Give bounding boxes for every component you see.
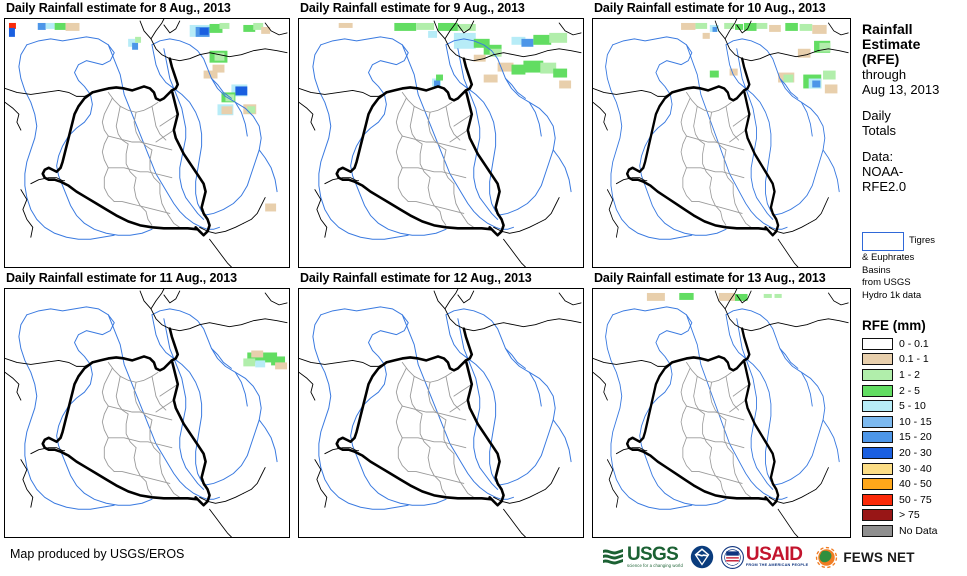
data-line1: Data:	[862, 149, 967, 164]
basin-label-line2: & Euphrates	[862, 251, 967, 264]
rfe-legend-row: 0.1 - 1	[862, 352, 967, 368]
province-boundaries	[396, 362, 473, 497]
panel-map-1[interactable]	[298, 18, 584, 268]
fewsnet-globe-icon	[815, 546, 838, 569]
rainfall-cell	[394, 23, 416, 31]
rainfall-cell	[428, 31, 437, 38]
rfe-legend-label: 30 - 40	[893, 463, 932, 475]
rainfall-cell	[416, 23, 434, 30]
map-canvas	[593, 19, 850, 267]
rfe-legend-swatch	[862, 463, 893, 475]
rainfall-cell	[800, 24, 813, 31]
map-panel-3[interactable]: Daily Rainfall estimate for 11 Aug., 201…	[0, 270, 294, 540]
rfe-legend-label: 40 - 50	[893, 478, 932, 490]
totals-line1: Daily	[862, 108, 967, 123]
neighbor-country-borders	[593, 289, 848, 537]
rainfall-cell	[132, 43, 138, 50]
map-canvas	[5, 19, 289, 267]
rfe-legend-label: 50 - 75	[893, 494, 932, 506]
rainfall-cell	[55, 23, 66, 30]
map-panel-grid: Daily Rainfall estimate for 8 Aug., 2013…	[0, 0, 855, 540]
rainfall-cell	[757, 23, 768, 29]
data-line2: NOAA-	[862, 164, 967, 179]
data-line3: RFE2.0	[862, 179, 967, 194]
panel-title-5: Daily Rainfall estimate for 13 Aug., 201…	[588, 270, 855, 286]
rainfall-cell	[679, 293, 693, 300]
map-canvas	[593, 289, 850, 537]
rfe-legend-label: 0.1 - 1	[893, 353, 929, 365]
map-panel-0[interactable]: Daily Rainfall estimate for 8 Aug., 2013	[0, 0, 294, 270]
usgs-logo[interactable]: USGS science for a changing world	[601, 546, 683, 568]
rfe-legend-swatch	[862, 431, 893, 443]
basin-outlines	[19, 37, 277, 239]
rfe-legend-label: 15 - 20	[893, 431, 932, 443]
basin-outlines	[19, 307, 277, 509]
neighbor-country-borders	[5, 289, 287, 537]
noaa-logo[interactable]	[690, 545, 714, 569]
rfe-legend-swatch	[862, 353, 893, 365]
rainfall-cell	[200, 28, 209, 35]
rfe-legend-list: 0 - 0.10.1 - 11 - 22 - 55 - 1010 - 1515 …	[862, 336, 967, 539]
province-boundaries	[681, 92, 751, 227]
rfe-legend-row: 2 - 5	[862, 383, 967, 399]
rainfall-cell	[219, 23, 229, 29]
rainfall-cell	[764, 294, 772, 298]
rfe-legend-row: 30 - 40	[862, 461, 967, 477]
iraq-national-border	[627, 329, 778, 506]
sidebar-through-date: Aug 13, 2013	[856, 82, 967, 97]
basin-label-line4: from USGS	[862, 276, 967, 289]
rfe-legend-swatch	[862, 385, 893, 397]
rfe-legend-label: No Data	[893, 525, 938, 537]
usaid-seal-icon	[721, 546, 744, 569]
rainfall-cell	[255, 360, 265, 367]
basin-label-line1: Tigres	[904, 232, 935, 249]
rainfall-cell	[769, 25, 781, 32]
iraq-national-border	[627, 59, 778, 236]
panel-title-4: Daily Rainfall estimate for 12 Aug., 201…	[294, 270, 588, 286]
totals-line2: Totals	[862, 123, 967, 138]
rainfall-cell	[512, 65, 526, 75]
panel-title-1: Daily Rainfall estimate for 9 Aug., 2013	[294, 0, 588, 16]
panel-map-2[interactable]	[592, 18, 851, 268]
iraq-national-border	[337, 329, 504, 506]
rfe-legend-row: 20 - 30	[862, 445, 967, 461]
basin-outlines	[313, 307, 571, 509]
usgs-logo-tagline: science for a changing world	[627, 563, 683, 568]
logo-bar: USGS science for a changing world	[601, 542, 915, 572]
rainfall-cell	[681, 23, 695, 30]
basin-label-line3: Basins	[862, 264, 967, 277]
usgs-logo-text: USGS	[627, 546, 683, 563]
rainfall-cell	[549, 33, 567, 43]
rfe-legend-row: 1 - 2	[862, 367, 967, 383]
rfe-legend-swatch	[862, 416, 893, 428]
rainfall-cell	[238, 87, 245, 93]
iraq-national-border	[43, 329, 210, 506]
rainfall-cell	[251, 351, 263, 358]
legend-sidebar: Rainfall Estimate (RFE) through Aug 13, …	[856, 0, 967, 540]
rfe-legend-label: 2 - 5	[893, 385, 920, 397]
rfe-legend-label: 10 - 15	[893, 416, 932, 428]
basin-swatch	[862, 232, 904, 251]
rainfall-cell	[9, 28, 15, 37]
rfe-legend-swatch	[862, 525, 893, 537]
rfe-map-sheet: Daily Rainfall estimate for 8 Aug., 2013…	[0, 0, 967, 576]
rainfall-cell	[38, 23, 46, 30]
rfe-legend-swatch	[862, 478, 893, 490]
rainfall-cell	[275, 362, 287, 369]
rainfall-cell	[703, 33, 710, 39]
sidebar-data-source: Data: NOAA- RFE2.0	[856, 138, 967, 194]
rainfall-cell	[339, 23, 353, 28]
rainfall-cell	[812, 25, 826, 34]
iraq-national-border	[43, 59, 210, 236]
rfe-legend-row: 0 - 0.1	[862, 336, 967, 352]
rainfall-cell	[775, 294, 782, 298]
rainfall-cell	[553, 69, 567, 78]
rainfall-cell	[785, 23, 798, 31]
rfe-legend-label: > 75	[893, 509, 920, 521]
map-panel-4[interactable]: Daily Rainfall estimate for 12 Aug., 201…	[294, 270, 588, 540]
province-boundaries	[102, 92, 179, 227]
map-canvas	[299, 19, 583, 267]
rainfall-cell	[784, 75, 794, 83]
rfe-legend-swatch	[862, 400, 893, 412]
rfe-legend-label: 20 - 30	[893, 447, 932, 459]
panel-map-3[interactable]	[4, 288, 290, 538]
sidebar-through: through	[856, 67, 967, 82]
panel-map-4[interactable]	[298, 288, 584, 538]
map-canvas	[5, 289, 289, 537]
neighbor-country-borders	[299, 289, 581, 537]
rfe-legend-row: No Data	[862, 523, 967, 539]
rfe-legend-swatch	[862, 447, 893, 459]
rfe-legend-row: > 75	[862, 508, 967, 524]
rfe-legend-row: 5 - 10	[862, 398, 967, 414]
fewsnet-logo-text: FEWS NET	[843, 550, 914, 565]
map-panel-5[interactable]: Daily Rainfall estimate for 13 Aug., 201…	[588, 270, 855, 540]
rainfall-cell	[533, 35, 551, 45]
rainfall-cell	[812, 81, 820, 88]
map-panel-2[interactable]: Daily Rainfall estimate for 10 Aug., 201…	[588, 0, 855, 270]
panel-title-0: Daily Rainfall estimate for 8 Aug., 2013	[0, 0, 294, 16]
map-canvas	[299, 289, 583, 537]
rfe-legend-swatch	[862, 509, 893, 521]
rfe-legend-swatch	[862, 369, 893, 381]
neighbor-country-borders	[299, 19, 581, 267]
rainfall-cell	[825, 84, 838, 93]
rainfall-cell	[243, 358, 255, 366]
usaid-logo[interactable]: USAID FROM THE AMERICAN PEOPLE	[721, 546, 808, 569]
rainfall-cell	[713, 27, 717, 32]
rainfall-raster	[339, 23, 571, 88]
rainfall-cell	[66, 23, 80, 31]
sidebar-title-line2: Estimate	[862, 37, 967, 52]
rainfall-cell	[710, 71, 719, 78]
basin-legend-key: Tigres & Euphrates Basins from USGS Hydr…	[862, 232, 967, 301]
usaid-logo-tagline: FROM THE AMERICAN PEOPLE	[746, 563, 808, 568]
panel-map-5[interactable]	[592, 288, 851, 538]
rainfall-cell	[460, 37, 474, 48]
panel-map-0[interactable]	[4, 18, 290, 268]
rainfall-raster	[647, 293, 782, 301]
rainfall-cell	[458, 24, 476, 31]
sidebar-totals: Daily Totals	[856, 97, 967, 138]
basin-label-line5: Hydro 1k data	[862, 289, 967, 302]
province-boundaries	[396, 92, 473, 227]
rainfall-raster	[9, 23, 276, 211]
rainfall-cell	[559, 81, 571, 89]
sidebar-title-line3: (RFE)	[862, 52, 967, 67]
rfe-legend-label: 1 - 2	[893, 369, 920, 381]
fewsnet-logo[interactable]: FEWS NET	[815, 546, 914, 569]
panel-title-2: Daily Rainfall estimate for 10 Aug., 201…	[588, 0, 855, 16]
province-boundaries	[681, 362, 751, 497]
sidebar-title-line1: Rainfall	[862, 22, 967, 37]
rainfall-cell	[521, 39, 533, 47]
map-panel-1[interactable]: Daily Rainfall estimate for 9 Aug., 2013	[294, 0, 588, 270]
province-boundaries	[102, 362, 179, 497]
basin-outlines	[606, 37, 840, 239]
rfe-legend-row: 50 - 75	[862, 492, 967, 508]
rfe-legend-row: 40 - 50	[862, 476, 967, 492]
rainfall-cell	[647, 293, 665, 301]
sidebar-title: Rainfall Estimate (RFE)	[856, 0, 967, 67]
rfe-legend-label: 5 - 10	[893, 400, 926, 412]
panel-title-3: Daily Rainfall estimate for 11 Aug., 201…	[0, 270, 294, 286]
rainfall-cell	[221, 106, 232, 114]
usaid-logo-text: USAID	[746, 546, 808, 563]
rfe-legend-row: 15 - 20	[862, 430, 967, 446]
rainfall-raster	[243, 351, 287, 370]
rfe-legend-row: 10 - 15	[862, 414, 967, 430]
rainfall-cell	[484, 75, 498, 83]
usgs-wave-icon	[601, 547, 627, 567]
rainfall-raster	[681, 23, 837, 93]
rfe-legend-heading: RFE (mm)	[862, 318, 926, 333]
rainfall-cell	[265, 204, 276, 212]
map-credit: Map produced by USGS/EROS	[10, 547, 184, 561]
rfe-legend-swatch	[862, 338, 893, 350]
rfe-legend-swatch	[862, 494, 893, 506]
rainfall-cell	[247, 106, 255, 113]
rainfall-cell	[823, 71, 836, 80]
neighbor-country-borders	[5, 19, 287, 267]
iraq-national-border	[337, 59, 504, 236]
rfe-legend-label: 0 - 0.1	[893, 338, 929, 350]
rainfall-cell	[436, 75, 443, 81]
rainfall-cell	[135, 37, 141, 43]
rainfall-cell	[735, 24, 743, 30]
basin-outlines	[606, 307, 840, 509]
rainfall-cell	[695, 23, 707, 29]
rainfall-cell	[46, 23, 55, 29]
